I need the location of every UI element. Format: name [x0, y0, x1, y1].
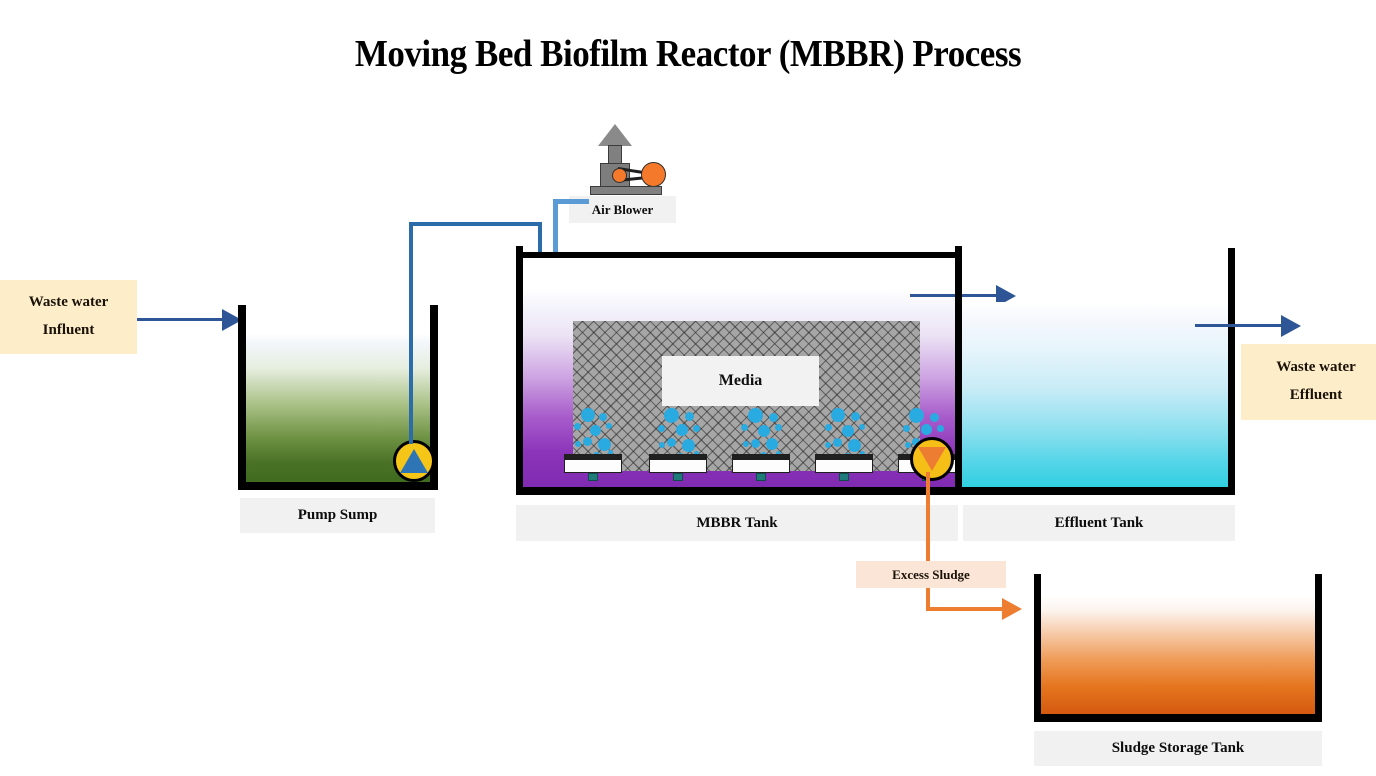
- diffuser-body: [815, 459, 873, 473]
- sludge-water: [1041, 596, 1315, 715]
- pump-sump-caption: Pump Sump: [240, 498, 435, 533]
- sludge-wall-right: [1315, 574, 1322, 720]
- mbbr-tank: Media: [516, 246, 962, 495]
- pump-sump-wall-left: [238, 305, 246, 487]
- pump-sump-caption-text: Pump Sump: [298, 507, 378, 524]
- air-blower-icon[interactable]: [586, 124, 666, 196]
- effluent-wall-right: [1228, 248, 1235, 492]
- sludge-storage-tank: [1034, 574, 1322, 722]
- sludge-storage-tank-caption-text: Sludge Storage Tank: [1112, 740, 1245, 757]
- diagram-canvas: Moving Bed Biofilm Reactor (MBBR) Proces…: [0, 0, 1376, 776]
- excess-sludge-horizontal: [926, 607, 1009, 611]
- effluent-tank-caption-text: Effluent Tank: [1055, 515, 1144, 532]
- diffuser-body: [649, 459, 707, 473]
- air-pipe-top: [553, 199, 589, 204]
- diffuser-stem: [756, 473, 766, 481]
- feed-pipe-horizontal: [409, 222, 542, 226]
- blower-cone-icon: [598, 124, 632, 146]
- blower-base-plate: [590, 186, 662, 195]
- sludge-wall-left: [1034, 574, 1041, 720]
- air-diffuser: [815, 454, 873, 481]
- air-blower-caption-text: Air Blower: [592, 202, 654, 218]
- effluent-wall-bottom: [955, 487, 1235, 495]
- air-diffuser: [732, 454, 790, 481]
- effluent-label: Waste water Effluent: [1241, 344, 1376, 420]
- excess-sludge-arrow-head: [1002, 598, 1022, 620]
- effluent-out-arrow-line: [1195, 324, 1285, 327]
- excess-sludge-riser: [926, 472, 930, 610]
- influent-label-line2: Influent: [43, 317, 95, 345]
- effluent-tank-caption: Effluent Tank: [963, 505, 1235, 541]
- effluent-water: [962, 302, 1228, 488]
- sludge-wall-bottom: [1034, 714, 1322, 722]
- effluent-label-line2: Effluent: [1290, 382, 1343, 410]
- excess-sludge-label-text: Excess Sludge: [892, 567, 970, 583]
- media-label: Media: [662, 356, 819, 406]
- mbbr-tank-caption-text: MBBR Tank: [696, 515, 777, 532]
- blower-small-pulley-icon: [612, 168, 627, 183]
- feed-pipe-riser: [409, 222, 413, 444]
- diffuser-body: [732, 459, 790, 473]
- sludge-pump-triangle-icon: [918, 447, 946, 471]
- diffuser-body: [564, 459, 622, 473]
- effluent-tank: [955, 248, 1235, 495]
- pump-sump-wall-bottom: [238, 482, 438, 490]
- air-diffuser: [649, 454, 707, 481]
- excess-sludge-label: Excess Sludge: [856, 561, 1006, 588]
- air-diffuser: [564, 454, 622, 481]
- diffuser-stem: [588, 473, 598, 481]
- mbbr-wall-top-rim: [516, 252, 962, 258]
- media-label-text: Media: [719, 372, 763, 390]
- mbbr-wall-left: [516, 246, 523, 492]
- sludge-pump-icon[interactable]: [910, 437, 954, 481]
- effluent-out-arrow-head: [1281, 315, 1301, 337]
- mbbr-wall-bottom: [516, 487, 962, 495]
- mbbr-tank-caption: MBBR Tank: [516, 505, 958, 541]
- sludge-storage-tank-caption: Sludge Storage Tank: [1034, 731, 1322, 766]
- effluent-wall-left: [955, 248, 962, 492]
- diffuser-stem: [673, 473, 683, 481]
- diffuser-stem: [839, 473, 849, 481]
- influent-arrow-line: [137, 318, 229, 321]
- page-title: Moving Bed Biofilm Reactor (MBBR) Proces…: [55, 32, 1321, 76]
- influent-label-line1: Waste water: [29, 289, 109, 317]
- effluent-label-line1: Waste water: [1276, 354, 1356, 382]
- feed-pump-triangle-icon: [400, 449, 428, 473]
- feed-pump-icon[interactable]: [393, 440, 435, 482]
- influent-label: Waste water Influent: [0, 280, 137, 354]
- blower-large-pulley-icon: [641, 162, 666, 187]
